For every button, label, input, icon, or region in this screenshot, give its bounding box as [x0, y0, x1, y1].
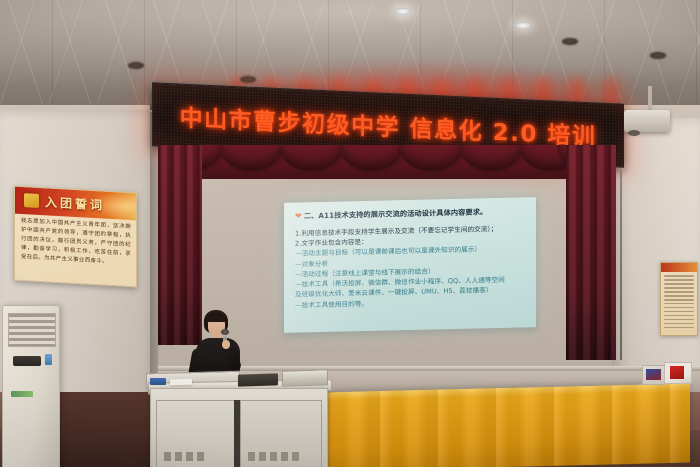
heart-icon: ❤ [295, 211, 302, 220]
lecture-hall-photo: 中山市曹步初级中学 信息化 2.0 培训 ❤二、A11技术支持的展示交流的活动设… [0, 0, 700, 467]
downlight-icon [515, 22, 531, 29]
downlight-icon [395, 8, 411, 15]
table-cloth-folds [322, 384, 690, 467]
desk-paper-sheet [170, 379, 192, 386]
poster-title: 入团誓词 [45, 193, 105, 213]
floor-air-conditioner [2, 305, 60, 467]
downlight-icon [650, 52, 666, 59]
projection-screen: ❤二、A11技术支持的展示交流的活动设计具体内容要求。 1.利用信息技术手段支持… [284, 197, 536, 333]
ac-display-panel [13, 356, 41, 366]
wall-notice-poster [660, 262, 698, 336]
poster-body-text: 我志愿加入中国共产主义青年团，坚决拥护中国共产党的领导，遵守团的章程，执行团的决… [21, 217, 131, 268]
stage-curtain-right [566, 145, 616, 360]
console-dark-monitor [238, 373, 278, 386]
downlight-icon [562, 38, 578, 45]
blue-product-box [642, 365, 666, 385]
projector-lens-icon [628, 130, 640, 136]
ceiling-projector [624, 110, 670, 132]
red-product-box [664, 362, 692, 384]
ac-vent-grille-icon [8, 313, 56, 347]
stage-valance [158, 145, 610, 179]
ac-indicator-icon [45, 354, 52, 365]
poster-header-band [661, 263, 697, 272]
youth-league-oath-poster: 入团誓词 我志愿加入中国共产主义青年团，坚决拥护中国共产党的领导，遵守团的章程，… [14, 186, 137, 288]
youth-league-emblem-icon [24, 193, 39, 208]
downlight-icon [240, 76, 256, 83]
slide-title: 二、A11技术支持的展示交流的活动设计具体内容要求。 [304, 207, 487, 220]
console-vent-row [164, 452, 204, 461]
brown-backdrop-banner [60, 392, 164, 467]
console-equipment-tray [282, 369, 328, 387]
microphone-head-icon [221, 329, 229, 335]
console-blue-label [150, 378, 166, 385]
downlight-icon [128, 62, 144, 69]
ac-brand-logo [11, 391, 33, 397]
slide-title-row: ❤二、A11技术支持的展示交流的活动设计具体内容要求。 [295, 206, 526, 221]
poster-text-lines [661, 272, 697, 334]
presenter-fringe [205, 313, 227, 322]
console-vent-row [248, 452, 299, 461]
wall-cable [620, 170, 622, 360]
draped-table [322, 384, 690, 467]
presenter-hand [222, 340, 230, 349]
